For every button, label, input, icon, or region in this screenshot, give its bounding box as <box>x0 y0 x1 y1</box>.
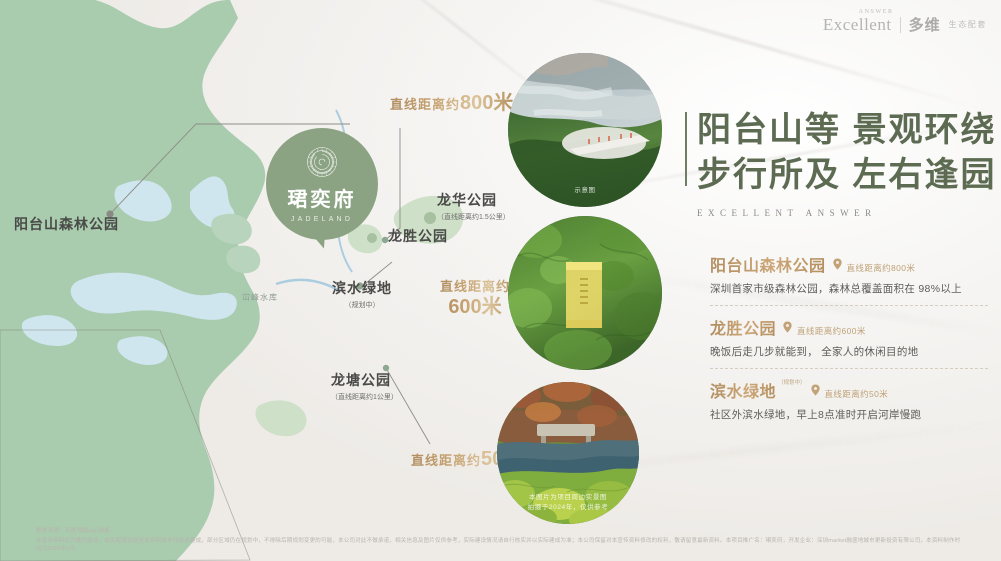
headline-english: EXCELLENT ANSWER <box>697 208 996 218</box>
map-label-sub: （直线距离约1公里） <box>331 392 398 402</box>
map-label-reservoir: 冚峰水库 <box>242 292 278 303</box>
feature-item-forest-park[interactable]: 阳台山森林公园 直线距离约800米 深圳首家市级森林公园，森林总覆盖面积在 98… <box>710 252 988 306</box>
feature-header: 滨水绿地 （规划中） 直线距离约50米 <box>710 378 988 402</box>
photo-caption: 本图片为项目周边实景图拍摄于2024年，仅供参考 <box>497 493 639 512</box>
feature-superscript: （规划中） <box>778 378 806 386</box>
callout-value: 800米 <box>460 92 513 114</box>
footer-data-source: 数据来源：百度地图app测量 <box>36 526 966 534</box>
feature-distance: 直线距离约600米 <box>797 325 866 337</box>
photo-yangtaishan-aerial[interactable]: 示意图 <box>508 53 662 207</box>
feature-item-longsheng-park[interactable]: 龙胜公园 直线距离约600米 晚饭后走几步就能到， 全家人的休闲目的地 <box>710 315 988 369</box>
map-label-longtang-park[interactable]: 龙塘公园 （直线距离约1公里） <box>331 370 398 402</box>
callout-prefix: 直线距离约 <box>411 453 481 468</box>
feature-description: 晚饭后走几步就能到， 全家人的休闲目的地 <box>710 344 988 359</box>
location-pin-icon <box>833 258 842 270</box>
logo-excellent: Excellent ANSWER <box>823 15 892 35</box>
feature-header: 阳台山森林公园 直线距离约800米 <box>710 252 988 276</box>
footer-legal-text: 本宣传资料仅为要约邀请，相关配套设施至本资料发布时尚未建成，部分区域仍在规划中，… <box>36 537 966 554</box>
photo-longsheng-park[interactable] <box>508 216 662 370</box>
logo-cn: 多维 <box>909 14 941 35</box>
logo-tagline: 生态配套 <box>949 19 987 30</box>
feature-title: 滨水绿地 <box>710 378 776 402</box>
headline-accent-bar <box>685 112 687 186</box>
map-leader-lines <box>0 0 470 561</box>
feature-list: 阳台山森林公园 直线距离约800米 深圳首家市级森林公园，森林总覆盖面积在 98… <box>710 252 988 440</box>
brand-logo[interactable]: Excellent ANSWER 多维 生态配套 <box>823 14 987 35</box>
feature-item-waterfront-green[interactable]: 滨水绿地 （规划中） 直线距离约50米 社区外滨水绿地，早上8点准时开启河岸慢跑 <box>710 378 988 431</box>
headline-block: 阳台山等 景观环绕 步行所及 左右逢园 EXCELLENT ANSWER <box>697 108 996 218</box>
headline-line-1: 阳台山等 景观环绕 <box>697 108 996 153</box>
map-label-sub: （直线距离约1.5公里） <box>437 212 510 222</box>
swirl-emblem-icon <box>305 145 339 179</box>
callout-value: 600米 <box>440 295 510 320</box>
feature-distance: 直线距离约800米 <box>847 262 916 274</box>
location-pin-icon <box>783 321 792 333</box>
map-label-waterfront-green[interactable]: 滨水绿地 （规划中） <box>332 278 392 310</box>
photo-image <box>508 216 662 370</box>
map-label-text: 龙华公园 <box>437 192 497 208</box>
callout-prefix: 直线距离约 <box>390 97 460 112</box>
map-label-text: 龙塘公园 <box>331 372 391 388</box>
map-label-longsheng-park[interactable]: 龙胜公园 <box>388 226 448 246</box>
logo-en-text: Excellent <box>823 15 892 34</box>
feature-distance: 直线距离约50米 <box>825 388 889 400</box>
map-label-text: 阳台山森林公园 <box>14 216 119 232</box>
location-map[interactable]: 阳台山森林公园 冚峰水库 <box>0 0 470 561</box>
feature-description: 社区外滨水绿地，早上8点准时开启河岸慢跑 <box>710 407 988 422</box>
map-label-yangtaishan[interactable]: 阳台山森林公园 <box>14 214 119 234</box>
map-label-sub: （规划中） <box>332 300 392 310</box>
photo-waterfront-green[interactable]: 本图片为项目周边实景图拍摄于2024年，仅供参考 <box>497 382 639 524</box>
map-label-text: 滨水绿地 <box>332 280 392 296</box>
photo-caption: 示意图 <box>508 186 662 195</box>
project-name-cn: 珺奕府 <box>288 183 357 212</box>
callout-distance-800m: 直线距离约800米 <box>390 86 513 115</box>
feature-title: 阳台山森林公园 <box>710 252 826 276</box>
photo-image <box>508 53 662 207</box>
callout-distance-600m: 直线距离约 600米 <box>440 279 510 320</box>
feature-description: 深圳首家市级森林公园，森林总覆盖面积在 98%以上 <box>710 281 988 296</box>
map-label-longhua-park[interactable]: 龙华公园 （直线距离约1.5公里） <box>437 190 510 222</box>
feature-header: 龙胜公园 直线距离约600米 <box>710 315 988 339</box>
footer-disclaimer: 数据来源：百度地图app测量 本宣传资料仅为要约邀请，相关配套设施至本资料发布时… <box>36 526 966 554</box>
logo-divider <box>900 17 901 33</box>
callout-prefix: 直线距离约 <box>440 279 510 295</box>
project-badge[interactable]: 珺奕府 JADELAND <box>266 128 378 240</box>
map-label-text: 龙胜公园 <box>388 228 448 244</box>
headline-line-2: 步行所及 左右逢园 <box>697 153 996 198</box>
marketing-poster: 阳台山森林公园 冚峰水库 龙华公园 （直线距离约1.5公里） 龙胜公园 滨水绿地… <box>0 0 1001 561</box>
location-pin-icon <box>811 384 820 396</box>
logo-en-sup: ANSWER <box>859 9 894 15</box>
project-name-en: JADELAND <box>291 216 353 223</box>
feature-title: 龙胜公园 <box>710 315 776 339</box>
